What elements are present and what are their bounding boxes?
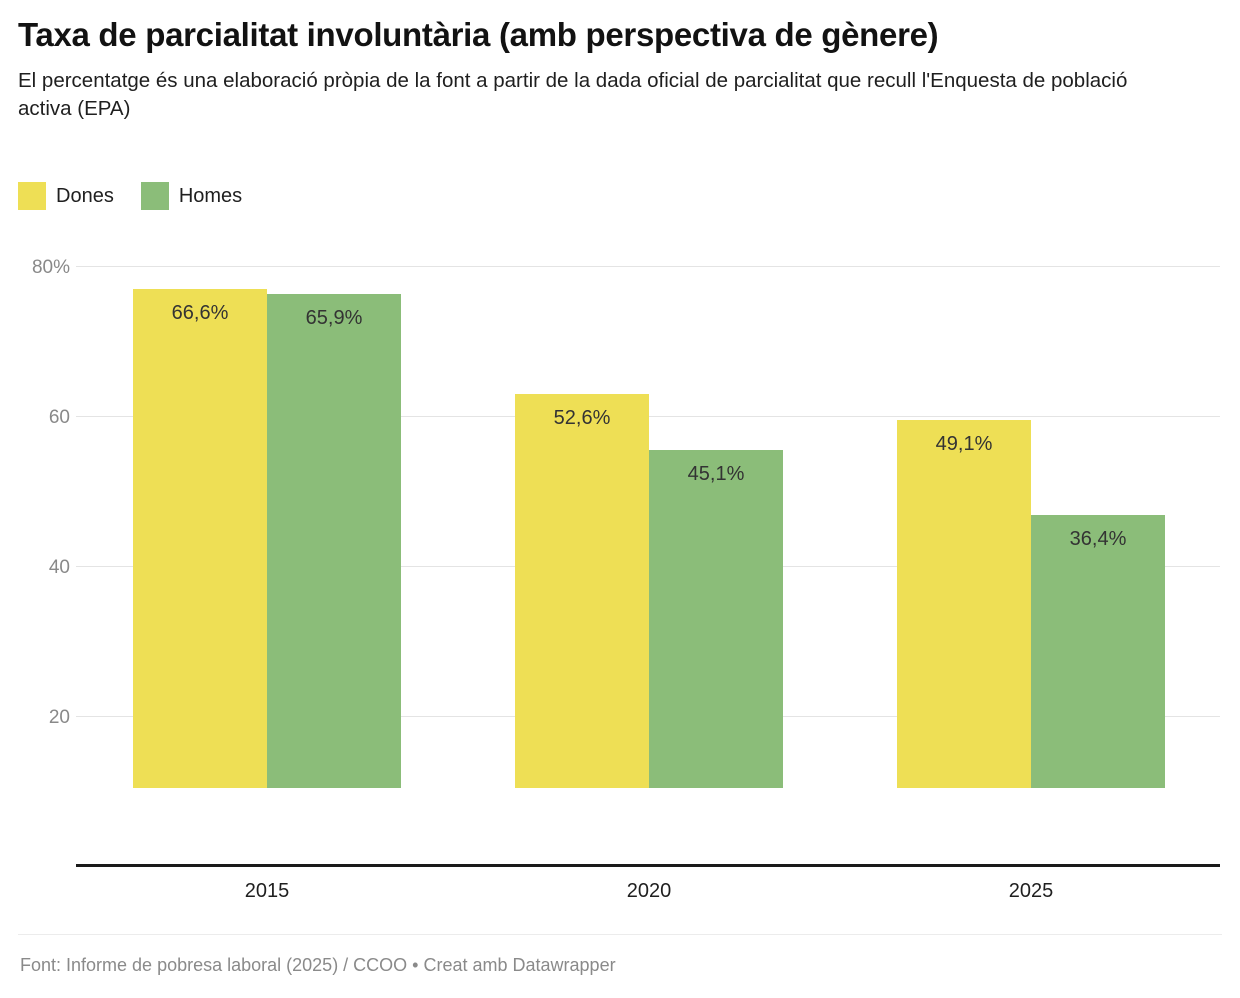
bar-value-label: 49,1% <box>897 433 1031 455</box>
x-axis-tick-2020: 2020 <box>515 880 783 902</box>
bar-homes-2020[interactable]: 45,1% <box>649 450 783 788</box>
bar-homes-2015[interactable]: 65,9% <box>267 294 401 788</box>
x-axis-line <box>76 864 1220 867</box>
bar-dones-2020[interactable]: 52,6% <box>515 394 649 789</box>
bar-value-label: 36,4% <box>1031 528 1165 550</box>
bar-value-label: 65,9% <box>267 307 401 329</box>
bar-value-label: 52,6% <box>515 407 649 429</box>
y-axis-tick-40: 40 <box>14 558 70 577</box>
x-axis-tick-2015: 2015 <box>133 880 401 902</box>
x-axis-tick-2025: 2025 <box>897 880 1165 902</box>
y-axis-tick-20: 20 <box>14 708 70 727</box>
y-axis-tick-60: 60 <box>14 408 70 427</box>
bar-value-label: 45,1% <box>649 463 783 485</box>
gridline-80 <box>76 266 1220 267</box>
bar-dones-2015[interactable]: 66,6% <box>133 289 267 789</box>
bar-homes-2025[interactable]: 36,4% <box>1031 515 1165 788</box>
chart-source-note: Font: Informe de pobresa laboral (2025) … <box>20 953 616 977</box>
footer-divider <box>18 934 1222 935</box>
bar-dones-2025[interactable]: 49,1% <box>897 420 1031 788</box>
bar-value-label: 66,6% <box>133 302 267 324</box>
plot-area: 80% 60 40 20 66,6% 65,9% 52,6% 45,1% 49,… <box>0 0 1240 920</box>
y-axis-tick-80: 80% <box>14 258 70 277</box>
chart-page: Taxa de parcialitat involuntària (amb pe… <box>0 0 1240 998</box>
